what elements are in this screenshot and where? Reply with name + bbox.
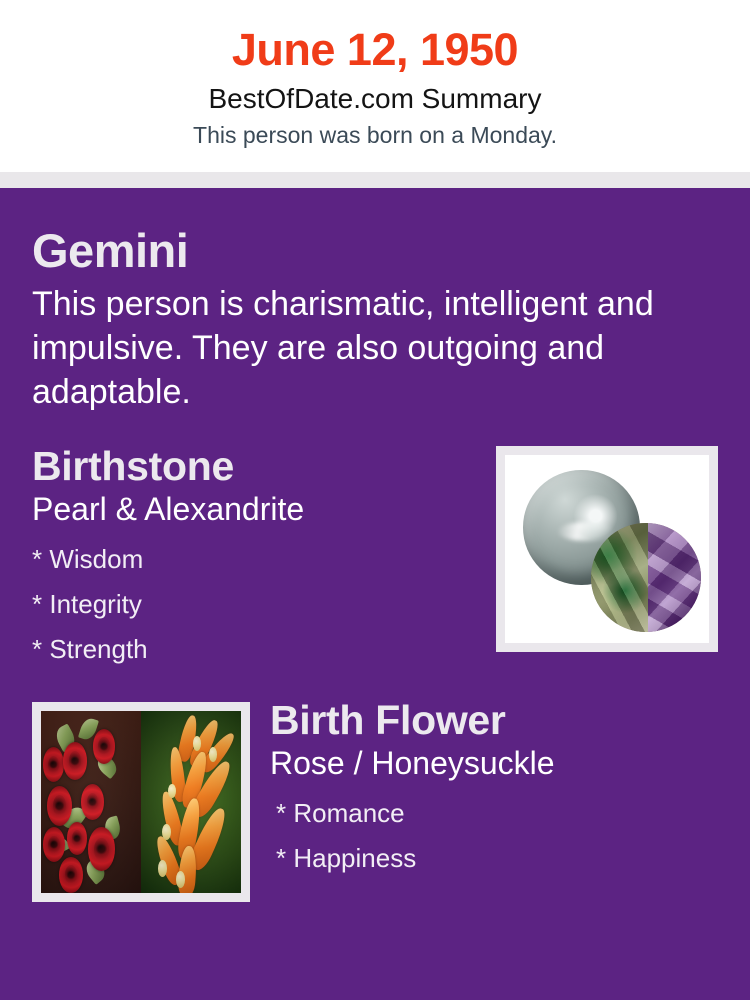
alexandrite-faceted-half	[648, 523, 701, 632]
list-item: * Integrity	[32, 582, 478, 627]
zodiac-section: Gemini This person is charismatic, intel…	[0, 188, 750, 414]
alexandrite-gem-icon	[591, 523, 701, 632]
site-summary-label: BestOfDate.com Summary	[0, 80, 750, 118]
birth-flower-text-block: Birth Flower Rose / Honeysuckle * Romanc…	[270, 696, 718, 881]
birthstone-title: Birthstone	[32, 442, 478, 490]
red-roses-photo-half	[41, 711, 141, 893]
birth-flower-image	[41, 711, 241, 893]
birth-flower-traits-list: * Romance * Happiness	[276, 791, 718, 881]
flower-split-photo	[41, 711, 241, 893]
summary-panel: Gemini This person is charismatic, intel…	[0, 188, 750, 1000]
zodiac-sign-name: Gemini	[32, 224, 720, 278]
page-title-date: June 12, 1950	[0, 22, 750, 78]
birthstone-text-block: Birthstone Pearl & Alexandrite * Wisdom …	[32, 442, 478, 672]
list-item: * Strength	[32, 627, 478, 672]
birthstone-photo-frame	[496, 446, 718, 652]
list-item: * Wisdom	[32, 537, 478, 582]
header-divider	[0, 172, 750, 188]
list-item: * Happiness	[276, 836, 718, 881]
zodiac-description: This person is charismatic, intelligent …	[32, 282, 712, 414]
birthstone-value: Pearl & Alexandrite	[32, 489, 478, 529]
birth-flower-title: Birth Flower	[270, 696, 718, 744]
birth-flower-section: Birth Flower Rose / Honeysuckle * Romanc…	[0, 696, 750, 902]
birth-flower-photo-frame	[32, 702, 250, 902]
page-header: June 12, 1950 BestOfDate.com Summary Thi…	[0, 0, 750, 172]
honeysuckle-photo-half	[141, 711, 241, 893]
alexandrite-rough-half	[591, 523, 648, 632]
list-item: * Romance	[276, 791, 718, 836]
birth-day-note: This person was born on a Monday.	[0, 119, 750, 151]
birthstone-traits-list: * Wisdom * Integrity * Strength	[32, 537, 478, 672]
birthstone-section: Birthstone Pearl & Alexandrite * Wisdom …	[0, 442, 750, 672]
birthstone-image	[505, 455, 709, 643]
birth-flower-value: Rose / Honeysuckle	[270, 743, 718, 783]
